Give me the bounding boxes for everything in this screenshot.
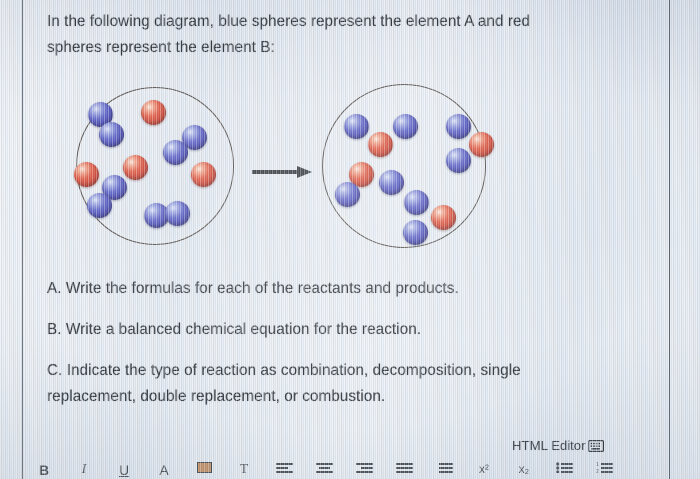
- reactant-sphere-a-1: [99, 122, 124, 147]
- question-a: A. Write the formulas for each of the re…: [47, 277, 637, 300]
- html-editor-label: HTML Editor: [512, 438, 586, 453]
- reaction-diagram: [60, 82, 510, 267]
- arrow-shaft: [252, 170, 300, 174]
- line-spacing-icon: [436, 462, 453, 473]
- align-right-icon: [356, 462, 373, 473]
- toolbar-underline-label: U: [119, 462, 129, 478]
- svg-text:2: 2: [596, 469, 599, 473]
- toolbar-subscript-button[interactable]: x₂: [504, 462, 544, 479]
- toolbar-align-left-button[interactable]: [264, 462, 304, 479]
- reactant-sphere-a-11: [165, 201, 190, 226]
- page-left-border: [22, 0, 23, 479]
- question-b: B. Write a balanced chemical equation fo…: [47, 318, 637, 341]
- toolbar-bold-label: B: [39, 462, 49, 478]
- toolbar-bulleted-list-button[interactable]: [544, 462, 584, 479]
- toolbar-numbered-list-button[interactable]: 12: [584, 462, 624, 479]
- product-sphere-b-10: [431, 205, 456, 230]
- reactant-sphere-b-5: [123, 155, 148, 180]
- arrow-head: [297, 166, 312, 178]
- toolbar-italic-button[interactable]: I: [64, 462, 104, 479]
- reactant-sphere-a-4: [163, 140, 188, 165]
- toolbar-underline-button[interactable]: U: [104, 462, 144, 479]
- toolbar-superscript-label: x²: [479, 462, 489, 476]
- numbered-list-icon: 12: [596, 462, 613, 473]
- toolbar-italic-label: I: [82, 462, 87, 478]
- product-sphere-a-3: [446, 114, 471, 139]
- screenshot-root: In the following diagram, blue spheres r…: [0, 0, 700, 479]
- reactant-sphere-b-6: [74, 162, 99, 187]
- toolbar-background-color-button[interactable]: [184, 462, 224, 479]
- toolbar-align-justify-button[interactable]: [384, 462, 424, 479]
- toolbar-bold-button[interactable]: B: [24, 462, 64, 479]
- product-sphere-a-11: [403, 220, 428, 245]
- product-sphere-a-8: [379, 170, 404, 195]
- align-center-icon: [316, 462, 333, 473]
- product-sphere-b-2: [368, 132, 393, 157]
- toolbar-line-spacing-button[interactable]: [424, 462, 464, 479]
- toolbar-font-color-label: A: [159, 462, 168, 478]
- reactant-sphere-b-2: [141, 100, 166, 125]
- reaction-arrow-icon: [252, 166, 316, 178]
- product-sphere-a-0: [344, 114, 369, 139]
- question-c-line-2: replacement, double replacement, or comb…: [47, 385, 647, 408]
- intro-text-line-1: In the following diagram, blue spheres r…: [47, 10, 647, 33]
- product-sphere-a-7: [335, 182, 360, 207]
- toolbar-superscript-button[interactable]: x²: [464, 462, 504, 479]
- toolbar-text-style-button[interactable]: T: [224, 462, 264, 479]
- align-justify-icon: [396, 462, 413, 473]
- rich-text-toolbar[interactable]: B I U A T: [24, 462, 670, 479]
- product-sphere-a-1: [393, 114, 418, 139]
- toolbar-align-center-button[interactable]: [304, 462, 344, 479]
- reactant-sphere-b-7: [191, 162, 216, 187]
- toolbar-align-right-button[interactable]: [344, 462, 384, 479]
- toolbar-font-color-button[interactable]: A: [144, 462, 184, 479]
- bulleted-list-icon: [556, 462, 573, 473]
- intro-text-line-2: spheres represent the element B:: [47, 36, 647, 59]
- product-sphere-a-9: [404, 190, 429, 215]
- color-swatch-icon: [197, 462, 212, 473]
- question-c-line-1: C. Indicate the type of reaction as comb…: [47, 359, 647, 382]
- toolbar-subscript-label: x₂: [519, 462, 530, 476]
- product-sphere-b-5: [469, 132, 494, 157]
- reactant-sphere-a-9: [87, 193, 112, 218]
- toolbar-text-style-label: T: [240, 462, 249, 478]
- product-sphere-a-4: [446, 148, 471, 173]
- keyboard-icon[interactable]: [588, 440, 604, 452]
- html-editor-toggle[interactable]: HTML Editor: [512, 438, 604, 453]
- align-left-icon: [276, 462, 293, 473]
- svg-text:1: 1: [596, 462, 599, 468]
- page-right-border: [669, 0, 670, 479]
